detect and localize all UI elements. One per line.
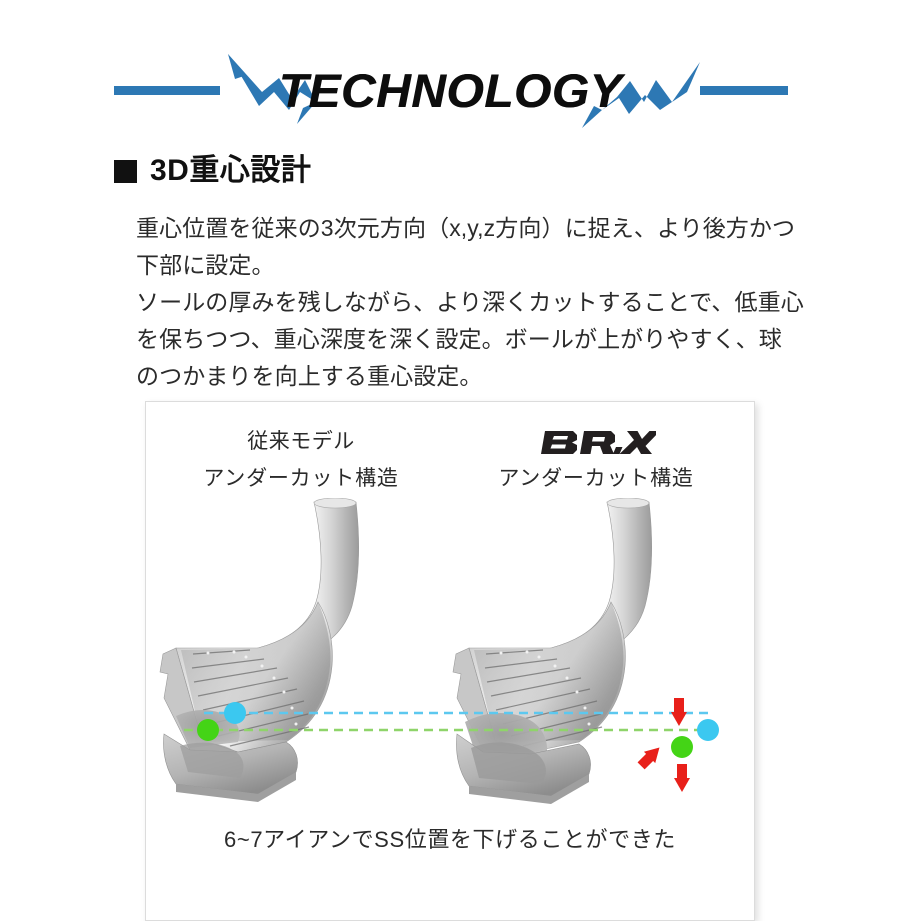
left-column-title: 従来モデル [156,426,446,458]
right-column-subtitle: アンダーカット構造 [451,464,741,494]
body-paragraph-2: ソールの厚みを残しながら、より深くカットすることで、低重心を保ちつつ、重心深度を… [136,284,804,395]
club-cross-section-svg [146,498,756,828]
banner-lightning-graphic [0,48,900,132]
body-paragraph-1: 重心位置を従来の3次元方向（x,y,z方向）に捉え、より後方かつ下部に設定。 [136,210,804,284]
diagram-column-right-header: アンダーカット構造 [451,426,741,494]
left-bolt-icon [228,54,316,110]
right-ss-dot [671,736,693,758]
section-body: 重心位置を従来の3次元方向（x,y,z方向）に捉え、より後方かつ下部に設定。 ソ… [136,210,804,395]
diagram-caption: 6~7アイアンでSS位置を下げることができた [146,822,754,854]
brx-logo [536,427,656,457]
left-ss-dot [197,719,219,741]
left-bolt-tail-top [228,54,244,79]
left-cg-dot [224,702,246,724]
left-club-head [160,498,359,802]
section-heading: 3D重心設計 [114,156,311,186]
arrow-down-cg-icon [671,698,687,726]
arrow-down-ss-icon [674,764,690,792]
left-column-subtitle: アンダーカット構造 [156,464,446,494]
right-cg-dot [697,719,719,741]
technology-diagram-panel: 従来モデル アンダーカット構造 アンダー [145,401,755,921]
left-bolt-tail-bottom [297,102,316,124]
technology-banner [0,48,900,132]
right-hosel-top [607,498,649,508]
right-bolt-tail-top [672,62,700,102]
square-bullet-icon [114,160,137,183]
section-heading-label: 3D重心設計 [150,156,311,186]
left-hosel-top [314,498,356,508]
right-bolt-tail-bottom [582,106,602,128]
arrow-down-left-icon [635,742,665,772]
club-head-comparison-graphic [146,498,756,828]
right-bolt-icon [602,80,672,114]
right-rule [700,86,788,95]
right-club-head [453,498,652,804]
brx-logo-wrap [451,426,741,458]
left-rule [114,86,220,95]
diagram-column-left-header: 従来モデル アンダーカット構造 [156,426,446,494]
